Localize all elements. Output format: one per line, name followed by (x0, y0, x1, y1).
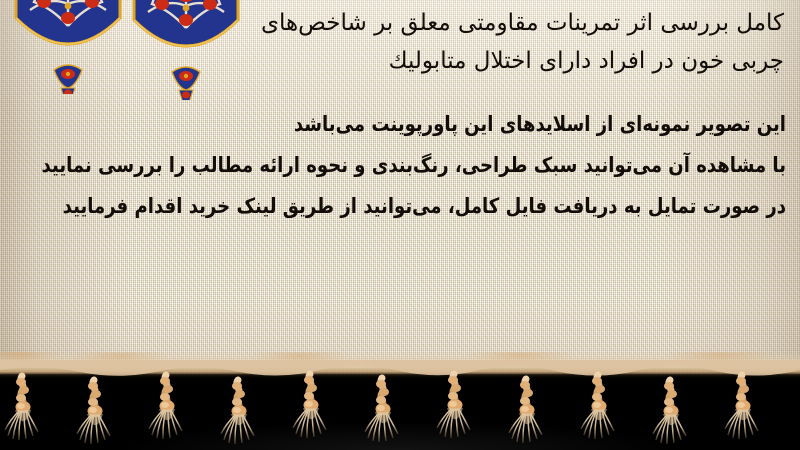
carpet-fringe-tassels-icon (0, 360, 800, 450)
slide-canvas: كامل بررسی اثر تمرينات مقاومتی معلق بر ش… (0, 0, 800, 450)
title-line-1: كامل بررسی اثر تمرينات مقاومتی معلق بر ش… (14, 4, 784, 42)
body-line-3: در صورت تمايل به دريافت فايل كامل، می‌تو… (122, 186, 786, 227)
slide-title: كامل بررسی اثر تمرينات مقاومتی معلق بر ش… (14, 4, 784, 80)
body-line-1: اين تصوير نمونه‌ای از اسلايدهای اين پاور… (122, 104, 786, 145)
title-line-2: چربی خون در افراد دارای اختلال متابوليك (14, 42, 784, 80)
slide-body: اين تصوير نمونه‌ای از اسلايدهای اين پاور… (14, 104, 786, 227)
body-line-2: با مشاهده آن می‌توانيد سبک طراحی، رنگ‌بن… (122, 145, 786, 186)
